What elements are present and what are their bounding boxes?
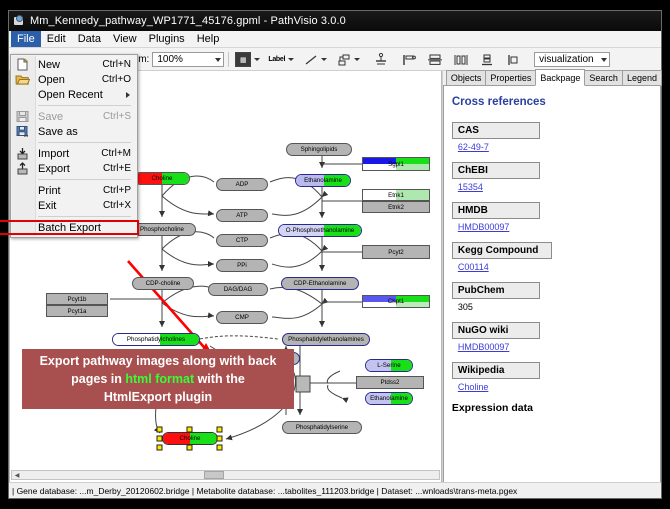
chevron-down-icon	[601, 58, 607, 62]
node-o-phosphoethanolamine[interactable]: O-Phosphoethanolamine	[278, 224, 362, 237]
status-bar-text: | Gene database: ...m_Derby_20120602.bri…	[12, 486, 517, 496]
xref-label-nugo: NuGO wiki	[452, 322, 540, 339]
xref-value-wikipedia[interactable]: Choline	[458, 382, 652, 392]
file-menu-open[interactable]: Open Ctrl+O	[11, 72, 137, 87]
chevron-down-icon	[354, 58, 360, 61]
file-menu-print[interactable]: Print Ctrl+P	[11, 183, 137, 198]
new-file-icon	[15, 58, 30, 71]
chevron-down-icon	[215, 58, 221, 62]
node-choline-top[interactable]: Choline	[134, 172, 190, 185]
cross-references-heading: Cross references	[452, 96, 652, 108]
node-cdp-ethanolamine[interactable]: CDP-Ethanolamine	[281, 277, 359, 290]
title-bar: Mm_Kennedy_pathway_WP1771_45176.gpml - P…	[9, 11, 661, 31]
node-label: ATP	[236, 212, 248, 219]
file-menu-save-label: Save	[38, 111, 63, 123]
node-ppi[interactable]: PPi	[216, 259, 268, 272]
save-icon	[15, 110, 30, 123]
node-label: Ethanolamine	[370, 395, 408, 402]
xref-link-chebi[interactable]: 15354	[458, 182, 483, 192]
anchor-button[interactable]	[374, 51, 388, 69]
file-menu-save-as-label: Save as	[38, 126, 78, 138]
label-button[interactable]: Label	[268, 51, 294, 69]
file-menu-batch-export-label: Batch Export	[38, 222, 101, 234]
distribute-button[interactable]	[454, 51, 468, 69]
group-icon	[506, 54, 520, 66]
xref-link-cas[interactable]: 62-49-7	[458, 142, 489, 152]
node-label: PPi	[237, 262, 247, 269]
xref-link-hmdb[interactable]: HMDB00097	[458, 222, 510, 232]
pathvisio-icon	[13, 15, 25, 27]
visualization-value: visualization	[539, 54, 593, 65]
side-panel: Objects Properties Backpage Search Legen…	[442, 71, 661, 498]
node-etnk1[interactable]: Etnk1	[362, 189, 430, 201]
node-l-serine[interactable]: L-Serine	[365, 359, 413, 372]
callout-line-3: HtmlExport plugin	[104, 390, 212, 404]
line-icon	[304, 54, 318, 66]
callout-line-2a: pages in	[71, 372, 125, 386]
node-adp[interactable]: ADP	[216, 178, 268, 191]
node-label: Pcyt1a	[68, 308, 87, 315]
tab-objects[interactable]: Objects	[446, 70, 487, 86]
xref-value-chebi[interactable]: 15354	[458, 182, 652, 192]
node-label: Phosphatidylethanolamines	[288, 336, 364, 343]
callout-line-1: Export pathway images along with back	[40, 354, 277, 368]
node-sgpl1[interactable]: Sgpl1	[362, 157, 430, 171]
file-menu-export[interactable]: Export Ctrl+E	[11, 161, 137, 176]
tab-backpage[interactable]: Backpage	[535, 69, 585, 86]
node-label: CTP	[236, 237, 248, 244]
node-label: ADP	[236, 181, 249, 188]
file-menu-open-recent[interactable]: Open Recent	[11, 87, 137, 102]
zoom-value: 100%	[157, 54, 183, 65]
node-etnk2[interactable]: Etnk2	[362, 201, 430, 213]
node-label: Chpt1	[388, 298, 405, 305]
file-menu-separator-2	[38, 142, 131, 143]
chevron-down-icon	[288, 58, 294, 61]
node-label: CMP	[235, 314, 249, 321]
node-label: Sphingolipids	[301, 146, 338, 153]
tab-properties[interactable]: Properties	[485, 70, 536, 86]
xref-label-cas: CAS	[452, 122, 540, 139]
node-ctp[interactable]: CTP	[216, 234, 268, 247]
node-label: Etnk1	[388, 192, 404, 199]
node-label: Choline	[180, 435, 201, 442]
visualization-combo[interactable]: visualization	[534, 52, 610, 67]
file-menu-import-accel: Ctrl+M	[101, 148, 131, 159]
node-cdp-choline[interactable]: CDP-choline	[132, 277, 194, 290]
hscroll-thumb[interactable]	[204, 471, 224, 479]
node-label: Pcyt2	[388, 249, 403, 256]
node-label: Etnk2	[388, 204, 404, 211]
menu-help[interactable]: Help	[191, 31, 226, 47]
file-menu-exit-accel: Ctrl+X	[103, 200, 131, 211]
node-label: Ptdss2	[381, 379, 400, 386]
file-menu-save-as[interactable]: Save as	[11, 124, 137, 139]
xref-link-kegg[interactable]: C00114	[458, 262, 489, 272]
stack-button[interactable]	[480, 51, 494, 69]
interaction-button[interactable]	[337, 51, 360, 69]
scroll-left-icon[interactable]: ◀	[12, 471, 22, 479]
file-menu-open-accel: Ctrl+O	[102, 74, 131, 85]
node-label: O-Phosphoethanolamine	[286, 227, 354, 234]
node-pcyt1b[interactable]: Pcyt1b	[46, 293, 108, 305]
file-menu-new-accel: Ctrl+N	[102, 59, 131, 70]
menu-edit[interactable]: Edit	[41, 31, 72, 47]
interaction-icon	[337, 54, 351, 66]
node-label: L-Serine	[377, 362, 400, 369]
menu-bar: File Edit Data View Plugins Help	[9, 31, 661, 48]
xref-label-wikipedia: Wikipedia	[452, 362, 540, 379]
file-menu-exit-label: Exit	[38, 200, 56, 212]
chevron-down-icon	[254, 58, 260, 61]
xref-label-pubchem: PubChem	[452, 282, 540, 299]
node-ethanolamine[interactable]: Ethanolamine	[295, 174, 351, 187]
xref-value-cas[interactable]: 62-49-7	[458, 142, 652, 152]
group-button[interactable]	[506, 51, 520, 69]
node-phosphatidylserine[interactable]: Phosphatidylserine	[282, 421, 362, 434]
callout-line-2-highlight: html format	[125, 372, 194, 386]
node-label: CDP-Ethanolamine	[294, 280, 347, 287]
tab-legend[interactable]: Legend	[622, 70, 662, 86]
align-center-button[interactable]	[428, 51, 442, 69]
file-menu-batch-export[interactable]: Batch Export	[11, 220, 137, 235]
node-dag[interactable]: DAG/DAG	[208, 283, 268, 296]
annotation-callout: Export pathway images along with back pa…	[22, 349, 294, 409]
file-menu-separator-3	[38, 179, 131, 180]
anchor-icon	[374, 53, 388, 66]
menu-file[interactable]: File	[11, 31, 41, 47]
node-label: CDP-choline	[146, 280, 181, 287]
node-label: Choline	[152, 175, 173, 182]
horizontal-scrollbar[interactable]: ◀	[11, 470, 440, 480]
file-menu-separator-4	[38, 216, 131, 217]
node-pcyt1a[interactable]: Pcyt1a	[46, 305, 108, 317]
node-label: Sgpl1	[388, 161, 404, 168]
node-phosphatidylethanolamines[interactable]: Phosphatidylethanolamines	[282, 333, 370, 346]
align-center-icon	[428, 54, 442, 66]
node-phosphatidylcholines[interactable]: Phosphatidylcholines	[112, 333, 200, 346]
node-label: Ethanolamine	[304, 177, 342, 184]
menu-data[interactable]: Data	[72, 31, 107, 47]
file-menu-import[interactable]: Import Ctrl+M	[11, 146, 137, 161]
node-label: DAG/DAG	[224, 286, 253, 293]
file-menu-save-accel: Ctrl+S	[103, 111, 131, 122]
file-menu-export-label: Export	[38, 163, 70, 175]
xref-value-hmdb[interactable]: HMDB00097	[458, 222, 652, 232]
menu-plugins[interactable]: Plugins	[143, 31, 191, 47]
save-as-icon	[15, 125, 30, 138]
tab-search[interactable]: Search	[584, 70, 623, 86]
folder-open-icon	[15, 73, 30, 86]
pathvisio-window: Mm_Kennedy_pathway_WP1771_45176.gpml - P…	[8, 10, 662, 499]
file-menu-print-accel: Ctrl+P	[103, 185, 131, 196]
node-label: Phosphatidylserine	[296, 424, 348, 431]
zoom-combo[interactable]: 100%	[152, 52, 224, 67]
node-ethanolamine-2[interactable]: Ethanolamine	[365, 392, 413, 405]
xref-value-kegg[interactable]: C00114	[458, 262, 652, 272]
export-icon	[15, 162, 30, 175]
grid-button[interactable]: ▦	[235, 51, 260, 69]
file-menu-separator-1	[38, 105, 131, 106]
node-label: Phosphatidylcholines	[127, 336, 185, 343]
distribute-icon	[454, 54, 468, 66]
expression-data-heading: Expression data	[452, 402, 652, 414]
file-menu-new-label: New	[38, 59, 60, 71]
file-menu-new[interactable]: New Ctrl+N	[11, 57, 137, 72]
grid-icon: ▦	[235, 52, 251, 67]
status-bar: | Gene database: ...m_Derby_20120602.bri…	[9, 482, 661, 498]
xref-label-kegg: Kegg Compound	[452, 242, 552, 259]
node-cmp[interactable]: CMP	[216, 311, 268, 324]
line-button[interactable]	[304, 51, 327, 69]
backpage-content: Cross references CAS 62-49-7 ChEBI 15354…	[443, 86, 661, 498]
stack-icon	[480, 54, 494, 66]
menu-view[interactable]: View	[107, 31, 143, 47]
node-pcyt2[interactable]: Pcyt2	[362, 245, 430, 259]
file-menu-exit[interactable]: Exit Ctrl+X	[11, 198, 137, 213]
toolbar-divider	[228, 52, 229, 67]
file-menu-popup: New Ctrl+N Open Ctrl+O Open Recent Save …	[10, 54, 138, 238]
file-menu-open-label: Open	[38, 74, 65, 86]
xref-value-nugo[interactable]: HMDB00097	[458, 342, 652, 352]
window-title: Mm_Kennedy_pathway_WP1771_45176.gpml - P…	[30, 15, 346, 27]
callout-line-2b: with the	[194, 372, 245, 386]
node-chpt1[interactable]: Chpt1	[362, 295, 430, 308]
node-ptdss2[interactable]: Ptdss2	[356, 376, 424, 389]
file-menu-open-recent-label: Open Recent	[38, 89, 103, 101]
node-label: Phosphocholine	[140, 226, 184, 233]
align-left-button[interactable]	[402, 51, 416, 69]
file-menu-export-accel: Ctrl+E	[103, 163, 131, 174]
red-annotation-arrow	[128, 261, 216, 361]
xref-label-hmdb: HMDB	[452, 202, 540, 219]
node-atp[interactable]: ATP	[216, 209, 268, 222]
file-menu-import-label: Import	[38, 148, 69, 160]
node-label: Pcyt1b	[68, 296, 87, 303]
xref-label-chebi: ChEBI	[452, 162, 540, 179]
file-menu-print-label: Print	[38, 185, 61, 197]
chevron-down-icon	[321, 58, 327, 61]
xref-link-nugo[interactable]: HMDB00097	[458, 342, 510, 352]
align-left-icon	[402, 54, 416, 66]
node-sphingolipids[interactable]: Sphingolipids	[286, 143, 352, 156]
side-panel-tabs: Objects Properties Backpage Search Legen…	[443, 71, 661, 86]
import-icon	[15, 147, 30, 160]
file-menu-save: Save Ctrl+S	[11, 109, 137, 124]
chevron-right-icon	[126, 92, 130, 98]
xref-value-pubchem: 305	[458, 302, 652, 312]
xref-link-wikipedia[interactable]: Choline	[458, 382, 489, 392]
label-icon: Label	[268, 56, 285, 63]
